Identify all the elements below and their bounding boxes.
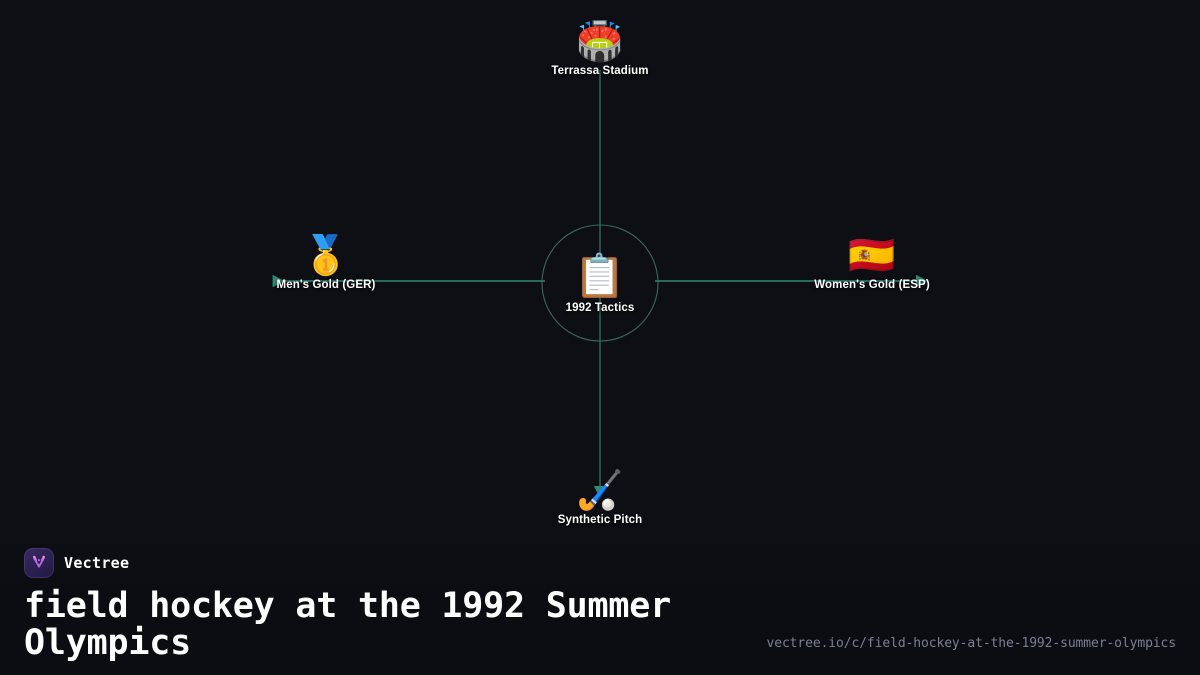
source-url: vectree.io/c/field-hockey-at-the-1992-su… bbox=[766, 636, 1176, 651]
node-terrassa-stadium[interactable]: 🏟️ Terrassa Stadium bbox=[515, 19, 685, 77]
node-mens-gold[interactable]: 🥇 Men's Gold (GER) bbox=[241, 233, 411, 291]
node-label: Men's Gold (GER) bbox=[277, 279, 376, 291]
node-label: Women's Gold (ESP) bbox=[814, 279, 930, 291]
node-synthetic-pitch[interactable]: 🏑 Synthetic Pitch bbox=[515, 468, 685, 526]
node-label: 1992 Tactics bbox=[566, 302, 635, 314]
node-label: Synthetic Pitch bbox=[558, 514, 643, 526]
brand-row: Vectree bbox=[24, 548, 1176, 578]
gold-medal-icon: 🥇 bbox=[302, 233, 349, 277]
card-footer: Vectree field hockey at the 1992 Summer … bbox=[0, 530, 1200, 675]
node-label: Terrassa Stadium bbox=[551, 65, 648, 77]
brand-name: Vectree bbox=[64, 554, 129, 572]
vectree-graph-card: 🏟️ Terrassa Stadium 🥇 Men's Gold (GER) 📋… bbox=[0, 0, 1200, 675]
node-womens-gold[interactable]: 🇪🇸 Women's Gold (ESP) bbox=[787, 233, 957, 291]
page-title: field hockey at the 1992 Summer Olympics bbox=[24, 588, 724, 663]
stadium-icon: 🏟️ bbox=[576, 19, 623, 63]
node-1992-tactics[interactable]: 📋 1992 Tactics bbox=[515, 252, 685, 314]
field-hockey-icon: 🏑 bbox=[576, 468, 623, 512]
clipboard-icon: 📋 bbox=[574, 252, 626, 300]
spain-flag-icon: 🇪🇸 bbox=[848, 233, 895, 277]
vectree-tree-logo-icon bbox=[24, 548, 54, 578]
